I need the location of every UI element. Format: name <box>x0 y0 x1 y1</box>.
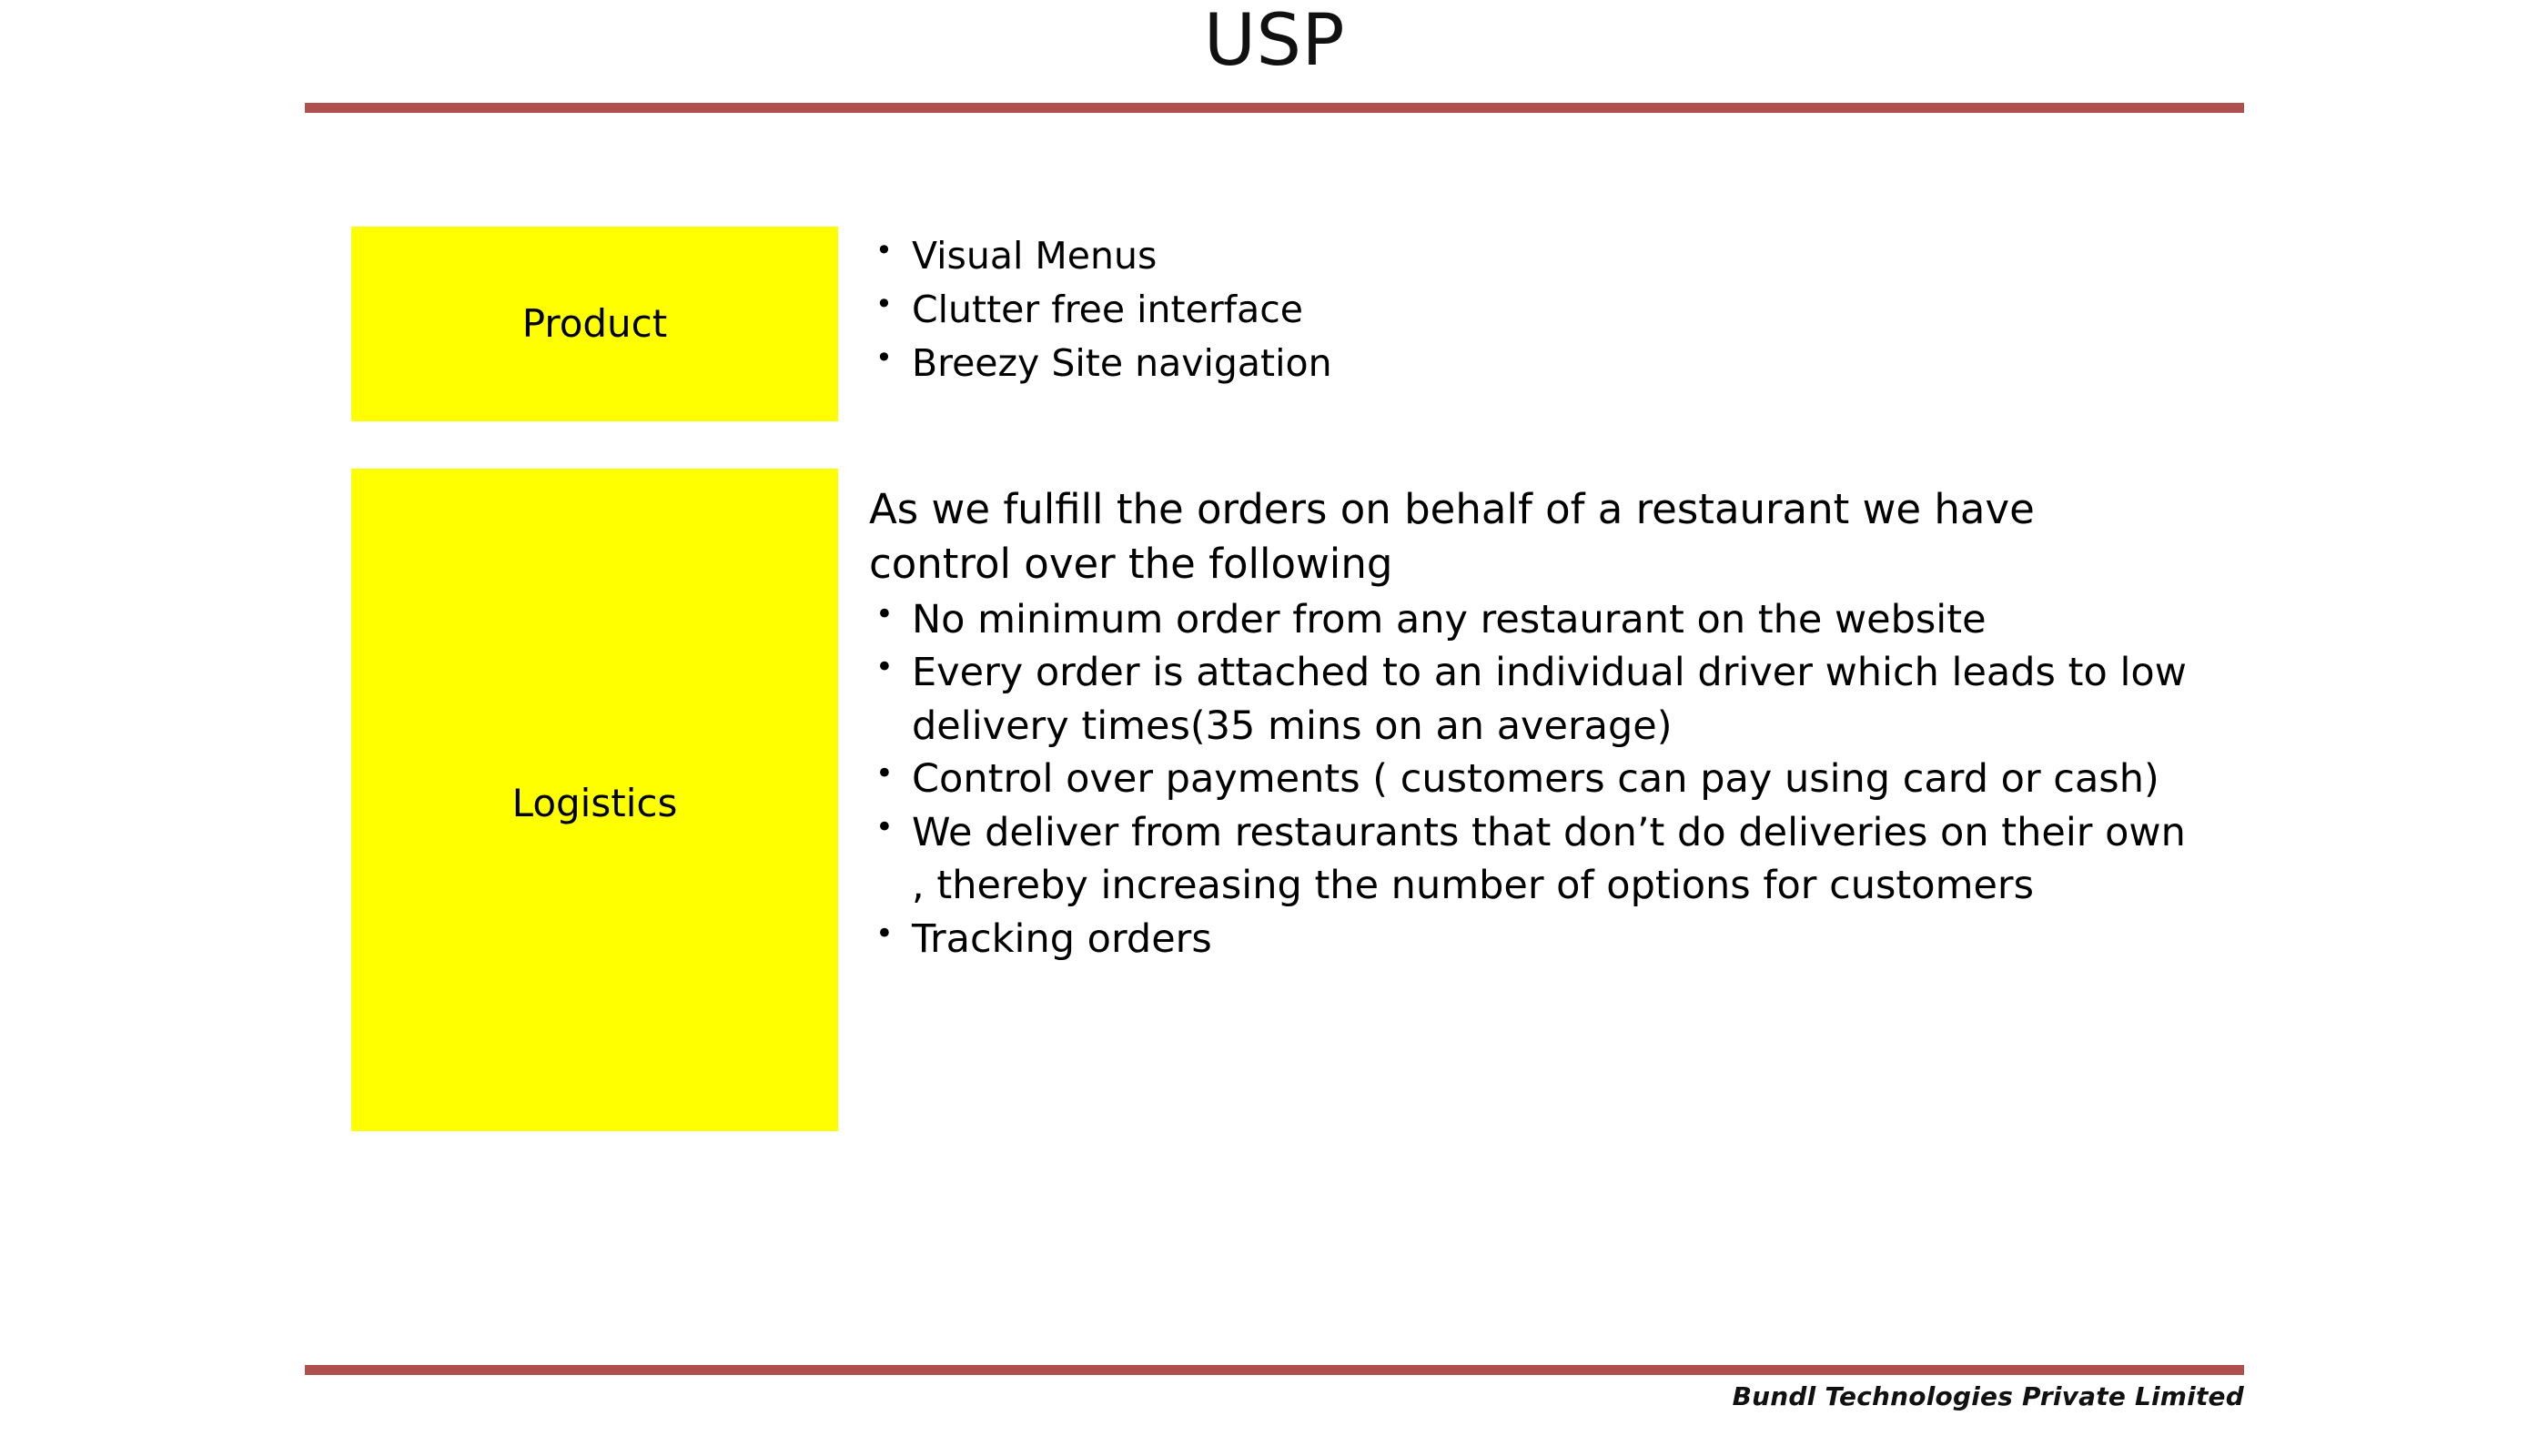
content-logistics: As we fulfill the orders on behalf of a … <box>869 482 2189 966</box>
list-item: We deliver from restaurants that don’t d… <box>869 806 2189 913</box>
slide-canvas: USP Product Visual Menus Clutter free in… <box>0 0 2548 1456</box>
list-item: Every order is attached to an individual… <box>869 646 2189 753</box>
logistics-lead-paragraph: As we fulfill the orders on behalf of a … <box>869 482 2189 591</box>
category-label-logistics: Logistics <box>512 781 678 826</box>
content-product: Visual Menus Clutter free interface Bree… <box>869 229 2234 390</box>
list-item: Breezy Site navigation <box>869 337 2234 390</box>
footer-company-name: Bundl Technologies Private Limited <box>1733 1381 2244 1411</box>
bullet-list-logistics: No minimum order from any restaurant on … <box>869 593 2189 966</box>
list-item: Clutter free interface <box>869 283 2234 337</box>
list-item: Tracking orders <box>869 913 2189 966</box>
footer-divider-rule <box>305 1365 2244 1375</box>
list-item: Visual Menus <box>869 229 2234 283</box>
category-box-logistics: Logistics <box>351 469 838 1131</box>
category-box-product: Product <box>351 227 838 421</box>
category-label-product: Product <box>522 301 667 347</box>
title-divider-rule <box>305 103 2244 113</box>
list-item: Control over payments ( customers can pa… <box>869 753 2189 805</box>
bullet-list-product: Visual Menus Clutter free interface Bree… <box>869 229 2234 390</box>
list-item: No minimum order from any restaurant on … <box>869 593 2189 646</box>
page-title: USP <box>305 2 2244 81</box>
